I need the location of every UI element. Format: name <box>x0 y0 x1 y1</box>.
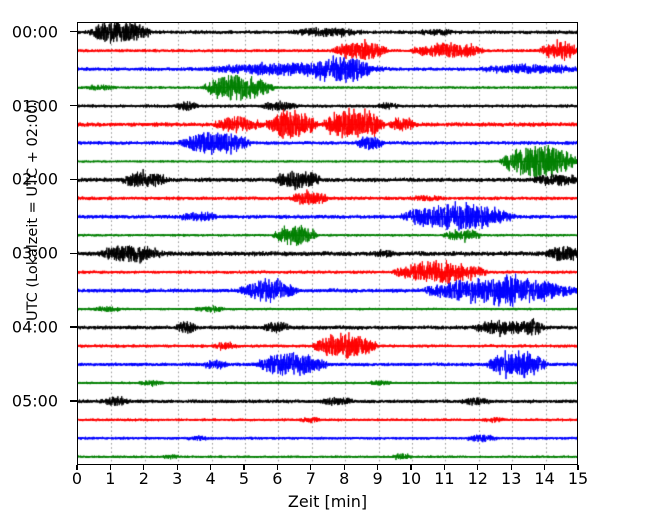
x-tick-label: 13 <box>501 469 521 488</box>
y-tick-label: 00:00 <box>0 22 58 41</box>
x-tick-mark <box>444 465 445 470</box>
seismogram-canvas <box>78 23 578 465</box>
x-tick-mark <box>511 465 512 470</box>
y-tick-label: 05:00 <box>0 391 58 410</box>
x-tick-label: 9 <box>373 469 383 488</box>
y-tick-mark <box>70 105 77 106</box>
x-tick-mark <box>310 465 311 470</box>
y-tick-mark <box>70 179 77 180</box>
y-tick-label: 02:00 <box>0 170 58 189</box>
x-tick-mark <box>344 465 345 470</box>
plot-area <box>77 22 578 465</box>
x-tick-mark <box>210 465 211 470</box>
x-tick-label: 8 <box>339 469 349 488</box>
y-tick-mark <box>70 400 77 401</box>
seismogram-figure: UTC (Lokalzeit = UTC + 02:00) 00:0001:00… <box>0 0 650 520</box>
x-tick-label: 14 <box>534 469 554 488</box>
x-tick-mark <box>243 465 244 470</box>
x-tick-mark <box>277 465 278 470</box>
x-tick-label: 7 <box>306 469 316 488</box>
x-tick-label: 4 <box>206 469 216 488</box>
y-tick-mark <box>70 253 77 254</box>
x-axis-label: Zeit [min] <box>77 492 578 511</box>
x-tick-mark <box>544 465 545 470</box>
y-tick-label: 03:00 <box>0 244 58 263</box>
x-tick-mark <box>477 465 478 470</box>
x-tick-mark <box>143 465 144 470</box>
x-tick-label: 3 <box>172 469 182 488</box>
y-tick-label: 01:00 <box>0 96 58 115</box>
x-tick-label: 10 <box>401 469 421 488</box>
x-tick-mark <box>76 465 77 470</box>
x-tick-label: 6 <box>272 469 282 488</box>
y-tick-mark <box>70 31 77 32</box>
x-tick-mark <box>410 465 411 470</box>
x-tick-label: 5 <box>239 469 249 488</box>
x-tick-label: 0 <box>72 469 82 488</box>
x-tick-mark <box>377 465 378 470</box>
x-tick-label: 12 <box>468 469 488 488</box>
x-tick-label: 1 <box>105 469 115 488</box>
y-tick-label: 04:00 <box>0 318 58 337</box>
x-tick-label: 11 <box>434 469 454 488</box>
x-tick-mark <box>577 465 578 470</box>
x-tick-mark <box>110 465 111 470</box>
x-tick-mark <box>177 465 178 470</box>
x-tick-label: 15 <box>568 469 588 488</box>
y-tick-mark <box>70 326 77 327</box>
x-tick-label: 2 <box>139 469 149 488</box>
